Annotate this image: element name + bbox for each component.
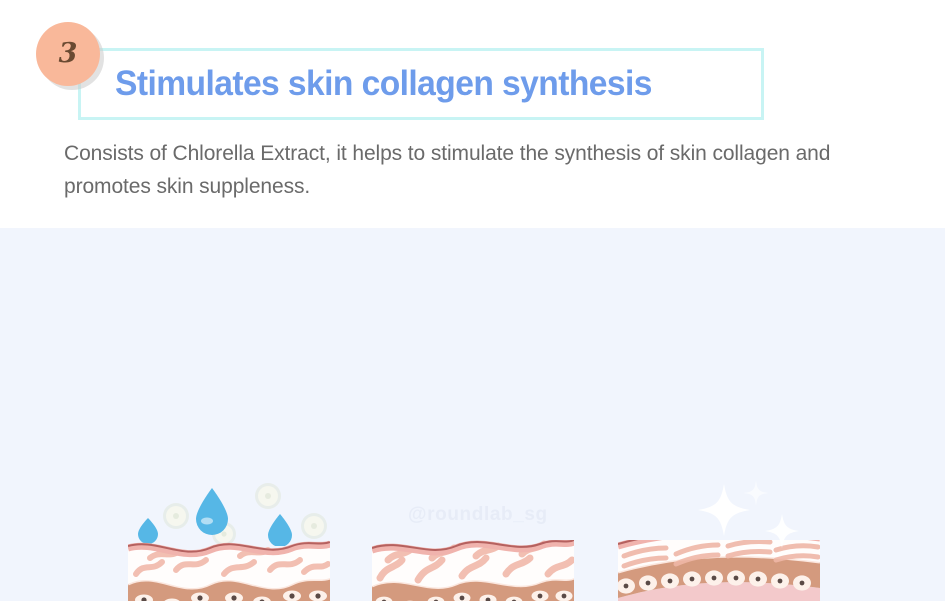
- illustration-panel: @roundlab_sg: [0, 228, 945, 601]
- water-droplets-icon: [128, 476, 338, 546]
- title-box: Stimulates skin collagen synthesis: [78, 48, 764, 120]
- description-text: Consists of Chlorella Extract, it helps …: [64, 138, 894, 203]
- step-number-badge: 3: [36, 22, 100, 86]
- skin-diagram-stage-2: COLLAGEN: [372, 540, 574, 601]
- page-title: Stimulates skin collagen synthesis: [115, 64, 652, 104]
- skin-diagram-stage-1: [128, 540, 330, 601]
- header-section: 3 Stimulates skin collagen synthesis Con…: [0, 0, 945, 228]
- sparkles-icon: [690, 480, 810, 552]
- watermark-text: @roundlab_sg: [408, 504, 548, 526]
- step-number-text: 3: [59, 40, 78, 67]
